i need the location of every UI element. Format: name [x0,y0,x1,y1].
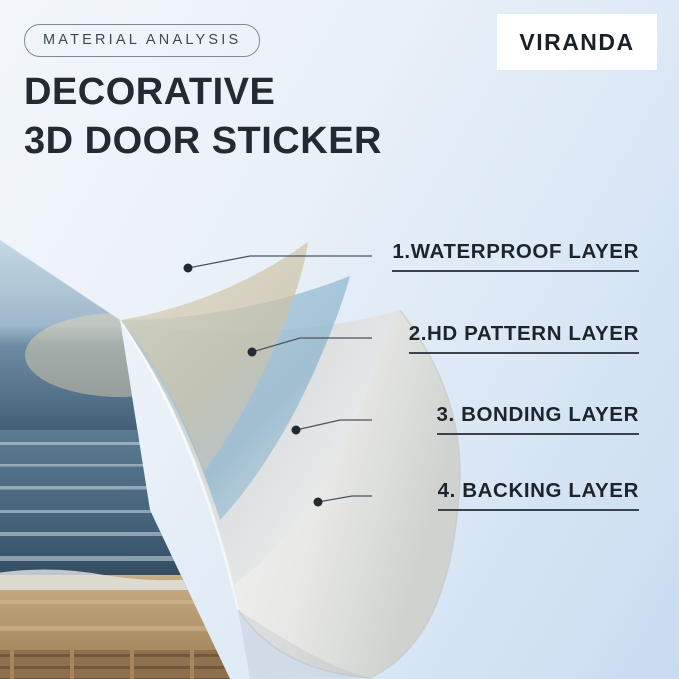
brand-logo-box: VIRANDA [497,14,657,70]
kicker-badge: MATERIAL ANALYSIS [24,24,260,57]
callout-label-3-text: 3. BONDING LAYER [437,403,640,426]
callout-label-4-text: 4. BACKING LAYER [438,479,639,502]
brand-name: VIRANDA [519,29,634,56]
callout-rule-3 [437,433,640,435]
callout-label-1: 1.WATERPROOF LAYER [392,240,639,272]
callout-label-4: 4. BACKING LAYER [438,479,639,511]
callout-rule-4 [438,509,639,511]
callout-label-3: 3. BONDING LAYER [437,403,640,435]
poster-canvas: MATERIAL ANALYSIS DECORATIVE 3D DOOR STI… [0,0,679,679]
callout-rule-2 [409,352,639,354]
page-title: DECORATIVE 3D DOOR STICKER [24,68,382,165]
callout-label-1-text: 1.WATERPROOF LAYER [392,240,639,263]
title-line-2: 3D DOOR STICKER [24,117,382,166]
callout-label-2-text: 2.HD PATTERN LAYER [409,322,639,345]
callout-label-2: 2.HD PATTERN LAYER [409,322,639,354]
title-line-1: DECORATIVE [24,71,275,113]
callout-rule-1 [392,270,639,272]
